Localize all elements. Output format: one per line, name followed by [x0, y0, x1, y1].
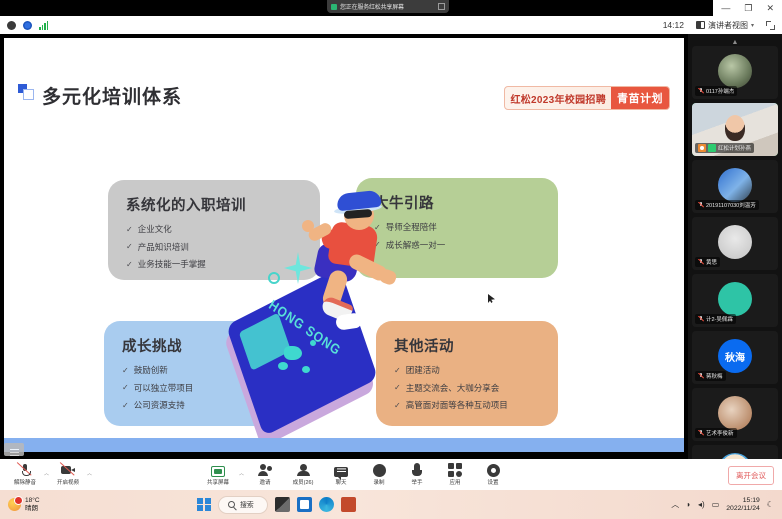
mic-muted-icon [698, 88, 704, 95]
host-badge-icon [698, 144, 706, 152]
record-label: 录制 [374, 478, 385, 486]
participant-tile[interactable]: 艺术李俊新 [692, 388, 778, 441]
chat-button[interactable]: 聊天 [324, 467, 358, 486]
list-item: ✓团建活动 [394, 364, 540, 376]
toolbar-right-group: 离开会议 [728, 465, 782, 485]
sun-icon [8, 498, 21, 511]
mic-muted-icon [698, 373, 704, 380]
slideshow-menu-icon[interactable] [4, 443, 24, 456]
list-item-label: 公司资源支持 [134, 399, 185, 411]
mic-muted-icon [698, 202, 704, 209]
clock-time: 15:19 [726, 497, 760, 505]
window-controls: — ❐ ✕ [713, 0, 782, 16]
list-item-label: 高管面对面等各种互动项目 [406, 399, 508, 411]
person-figure [288, 186, 400, 356]
meeting-timer: 14:12 [663, 20, 684, 30]
camera-toggle-button[interactable]: 开启视频 [51, 463, 85, 486]
mic-toggle-label: 解除静音 [14, 478, 36, 486]
avatar [718, 225, 752, 259]
apps-label: 应用 [450, 478, 461, 486]
list-item: ✓高管面对面等各种互动项目 [394, 399, 540, 411]
badge-accent-label: 青苗计划 [611, 87, 669, 109]
check-icon: ✓ [126, 242, 133, 251]
list-item-label: 团建活动 [406, 364, 440, 376]
participant-tile[interactable]: 20191107030刘温芳 [692, 160, 778, 213]
participant-name-chip: 计2-吴佩霖 [695, 314, 736, 324]
shield-icon[interactable] [7, 21, 16, 30]
windows-taskbar: 18°C 晴朗 搜索 ︿ ◗ ◂) ▭ 15:19 2022/11/24 [0, 490, 782, 519]
meeting-app-window: 您正在服务红松共享屏幕 — ❐ ✕ 14:12 演讲者视图 ▾ 多元化培训体系 [0, 0, 782, 519]
toolbar-left-group: 解除静音 ︿ 开启视频 ︿ [0, 463, 92, 486]
participant-tile-active[interactable]: 红松计划孙燕 [692, 103, 778, 156]
settings-button[interactable]: 设置 [476, 464, 510, 486]
shared-content-stage: 多元化培训体系 红松2023年校园招聘 青苗计划 系统化的入职培训 ✓企业文化 … [0, 34, 688, 459]
volume-icon[interactable]: ◂) [698, 500, 705, 509]
participant-tile[interactable]: 秋海 蒋秋梅 [692, 331, 778, 384]
mic-muted-icon [18, 463, 32, 477]
topbar-status-icons [7, 21, 48, 30]
toolbar-center-group: 共享屏幕 ︿ 邀请 成员(26) 聊天 录制 举手 [201, 463, 510, 486]
participant-tile[interactable]: 116 ▾ [692, 445, 778, 459]
screen-share-banner[interactable]: 您正在服务红松共享屏幕 [327, 0, 449, 13]
share-screen-icon [211, 466, 225, 477]
square-logo-icon [18, 84, 35, 101]
scroll-up-icon[interactable]: ▲ [692, 39, 778, 46]
status-badge: 红松2023年校园招聘 青苗计划 [504, 86, 670, 110]
page-title: 多元化培训体系 [42, 82, 182, 109]
members-button[interactable]: 成员(26) [286, 463, 320, 486]
view-mode-label: 演讲者视图 [708, 20, 748, 31]
participant-name: 黄思 [706, 258, 717, 266]
members-icon [296, 463, 310, 477]
list-item-label: 主题交流会、大咖分享会 [406, 382, 500, 394]
avatar [718, 54, 752, 88]
badge-primary-label: 红松2023年校园招聘 [505, 87, 611, 109]
chat-icon [334, 467, 348, 477]
view-mode-switch[interactable]: 演讲者视图 ▾ [693, 19, 757, 32]
list-item-label: 鼓励创新 [134, 364, 168, 376]
close-button[interactable]: ✕ [766, 4, 774, 13]
file-explorer-icon[interactable] [275, 497, 290, 512]
notification-bell-icon[interactable]: ☾ [767, 500, 774, 509]
share-options-chevron-icon[interactable]: ︿ [239, 470, 244, 486]
speaker-view-icon [696, 21, 705, 29]
mic-muted-icon [698, 259, 704, 266]
search-input[interactable]: 搜索 [218, 496, 268, 514]
camera-toggle-label: 开启视频 [57, 478, 79, 486]
presentation-slide[interactable]: 多元化培训体系 红松2023年校园招聘 青苗计划 系统化的入职培训 ✓企业文化 … [4, 38, 684, 438]
camera-options-chevron-icon[interactable]: ︿ [87, 470, 92, 486]
participant-tile[interactable]: 黄思 [692, 217, 778, 270]
meeting-topbar: 14:12 演讲者视图 ▾ [0, 16, 782, 34]
apps-button[interactable]: 应用 [438, 463, 472, 486]
avatar [718, 396, 752, 430]
microsoft-store-icon[interactable] [297, 497, 312, 512]
check-icon: ✓ [122, 401, 129, 410]
members-label: 成员(26) [293, 478, 314, 486]
card-heading: 其他活动 [394, 335, 540, 356]
wifi-icon[interactable]: ◗ [686, 500, 691, 509]
list-item: ✓主题交流会、大咖分享会 [394, 382, 540, 394]
list-item-label: 可以独立带项目 [134, 382, 194, 394]
chevron-down-icon: ▾ [751, 22, 754, 29]
check-icon: ✓ [126, 225, 133, 234]
avatar [718, 282, 752, 316]
invite-icon [258, 463, 272, 477]
share-screen-button[interactable]: 共享屏幕 [201, 466, 235, 486]
settings-gear-icon [487, 464, 500, 477]
list-item-label: 产品知识培训 [138, 241, 189, 253]
screen-share-label: 您正在服务红松共享屏幕 [340, 2, 435, 11]
avatar [725, 115, 745, 141]
participant-name-chip: 艺术李俊新 [695, 428, 737, 438]
mic-muted-icon [698, 430, 704, 437]
recording-dot-icon [331, 4, 337, 10]
search-icon [228, 501, 235, 508]
share-screen-label: 共享屏幕 [207, 478, 229, 486]
fullscreen-icon[interactable] [766, 21, 775, 30]
weather-description: 晴朗 [25, 505, 40, 512]
participant-rail[interactable]: ▲ 0117孙端杰 红松计划孙燕 20191107030刘温芳 [688, 34, 782, 459]
list-item-label: 业务技能一手掌握 [138, 258, 206, 270]
topbar-right: 14:12 演讲者视图 ▾ [663, 19, 775, 32]
battery-icon[interactable]: ▭ [712, 500, 720, 509]
search-placeholder: 搜索 [240, 500, 254, 510]
mic-options-chevron-icon[interactable]: ︿ [44, 470, 49, 486]
weather-widget[interactable]: 18°C 晴朗 [0, 497, 40, 512]
leave-meeting-button[interactable]: 离开会议 [728, 466, 774, 485]
slide-footer-strip [4, 438, 684, 452]
avatar: 秋海 [718, 339, 752, 373]
invite-label: 邀请 [260, 478, 271, 486]
participant-name: 0117孙端杰 [706, 87, 734, 95]
card-other-activities: 其他活动 ✓团建活动 ✓主题交流会、大咖分享会 ✓高管面对面等各种互动项目 [376, 321, 558, 426]
clock-date: 2022/11/24 [726, 505, 760, 513]
participant-name-chip: 红松计划孙燕 [695, 143, 754, 153]
card-list: ✓团建活动 ✓主题交流会、大咖分享会 ✓高管面对面等各种互动项目 [394, 364, 540, 411]
participant-name-chip: 蒋秋梅 [695, 371, 726, 381]
taskbar-clock[interactable]: 15:19 2022/11/24 [726, 497, 760, 513]
powerpoint-icon[interactable] [341, 497, 356, 512]
record-button[interactable]: 录制 [362, 464, 396, 486]
edge-browser-icon[interactable] [319, 497, 334, 512]
check-icon: ✓ [122, 366, 129, 375]
ring-icon [268, 272, 280, 284]
raise-hand-button[interactable]: 举手 [400, 463, 434, 486]
participant-name-chip: 20191107030刘温芳 [695, 200, 759, 210]
raise-hand-label: 举手 [412, 478, 423, 486]
check-icon: ✓ [122, 383, 129, 392]
network-icon[interactable] [23, 21, 32, 30]
participant-name-chip: 0117孙端杰 [695, 86, 737, 96]
check-icon: ✓ [126, 260, 133, 269]
participant-name: 艺术李俊新 [706, 429, 734, 437]
weather-temperature: 18°C [25, 497, 40, 504]
meeting-toolbar: 解除静音 ︿ 开启视频 ︿ 共享屏幕 ︿ 邀请 成员(26) [0, 459, 782, 490]
invite-button[interactable]: 邀请 [248, 463, 282, 486]
settings-label: 设置 [488, 478, 499, 486]
participant-name: 红松计划孙燕 [718, 144, 751, 152]
maximize-button[interactable]: ❐ [744, 4, 752, 13]
participant-name-chip: 黄思 [695, 257, 720, 267]
mic-toggle-button[interactable]: 解除静音 [8, 463, 42, 486]
list-item-label: 企业文化 [138, 223, 172, 235]
raise-hand-icon [410, 463, 424, 477]
mic-muted-icon [698, 316, 704, 323]
avatar [718, 168, 752, 202]
skateboard-illustration: HONG SONG [232, 186, 402, 426]
mouse-cursor [488, 294, 495, 303]
windows-start-icon[interactable] [197, 498, 211, 512]
participant-tile[interactable]: 计2-吴佩霖 [692, 274, 778, 327]
restore-window-icon[interactable] [438, 3, 445, 10]
participant-name: 20191107030刘温芳 [706, 201, 756, 209]
camera-off-icon [61, 463, 75, 477]
participant-tile[interactable]: 0117孙端杰 [692, 46, 778, 99]
minimize-button[interactable]: — [721, 4, 730, 13]
sharing-badge-icon [708, 144, 716, 152]
system-tray: ︿ ◗ ◂) ▭ 15:19 2022/11/24 ☾ [671, 497, 782, 513]
taskbar-center: 搜索 [197, 496, 356, 514]
participant-name: 蒋秋梅 [706, 372, 723, 380]
record-icon [373, 464, 386, 477]
signal-bars-icon[interactable] [39, 21, 48, 30]
participant-name: 计2-吴佩霖 [706, 315, 733, 323]
chevron-up-icon[interactable]: ︿ [671, 499, 679, 510]
apps-icon [448, 463, 462, 477]
